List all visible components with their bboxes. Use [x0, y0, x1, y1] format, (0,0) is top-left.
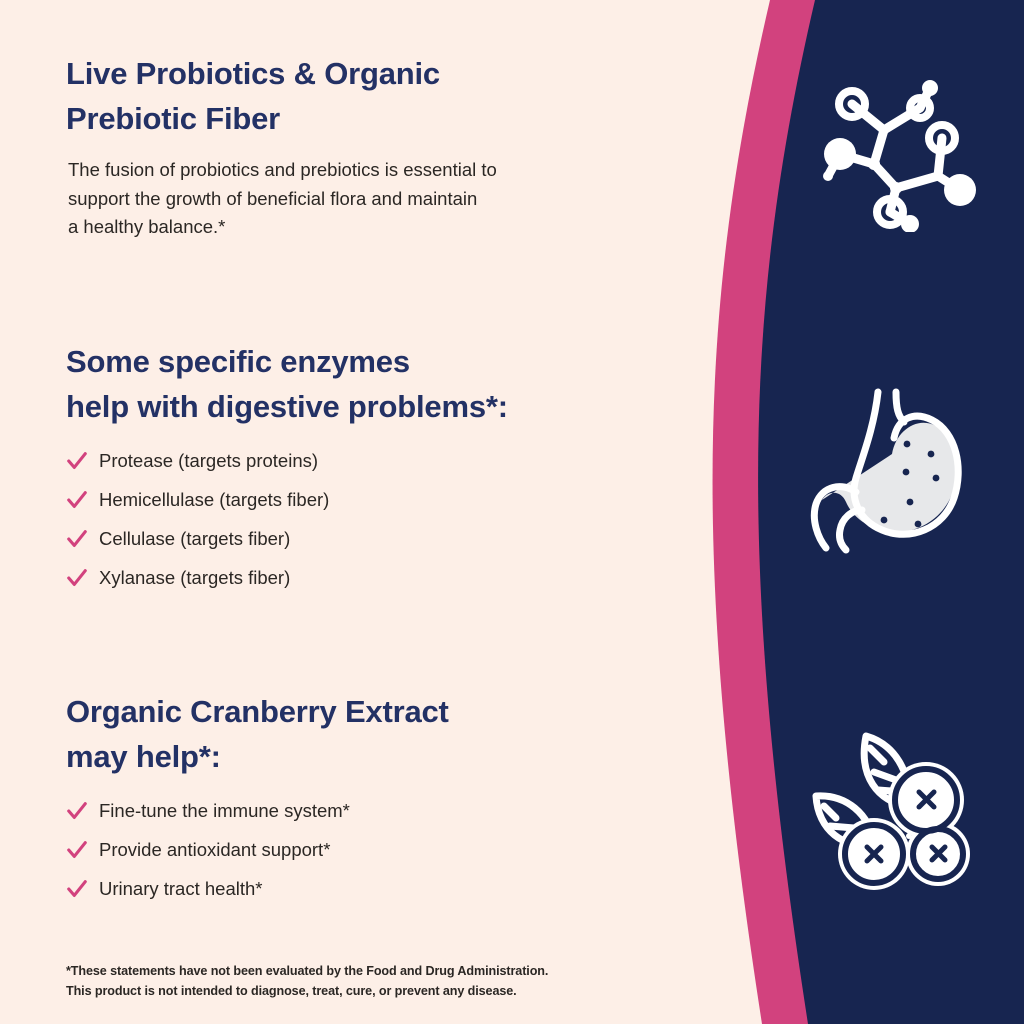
- list-item: Fine-tune the immune system*: [66, 798, 449, 824]
- check-icon: [66, 567, 88, 589]
- list-item-label: Cellulase (targets fiber): [99, 530, 290, 549]
- cranberry-benefit-list: Fine-tune the immune system* Provide ant…: [66, 798, 449, 902]
- check-icon: [66, 489, 88, 511]
- section-probiotics-body: The fusion of probiotics and prebiotics …: [68, 156, 497, 242]
- fda-disclaimer: *These statements have not been evaluate…: [66, 962, 548, 1001]
- check-icon: [66, 878, 88, 900]
- infographic-canvas: Live Probiotics & Organic Prebiotic Fibe…: [0, 0, 1024, 1024]
- check-icon: [66, 450, 88, 472]
- list-item: Hemicellulase (targets fiber): [66, 487, 508, 513]
- list-item-label: Provide antioxidant support*: [99, 841, 330, 860]
- check-icon: [66, 800, 88, 822]
- list-item-label: Protease (targets proteins): [99, 452, 318, 471]
- list-item: Protease (targets proteins): [66, 448, 508, 474]
- list-item-label: Urinary tract health*: [99, 880, 262, 899]
- list-item-label: Xylanase (targets fiber): [99, 569, 290, 588]
- list-item: Urinary tract health*: [66, 876, 449, 902]
- content-column: Live Probiotics & Organic Prebiotic Fibe…: [0, 0, 680, 1024]
- check-icon: [66, 839, 88, 861]
- section-probiotics: Live Probiotics & Organic Prebiotic Fibe…: [66, 52, 497, 242]
- section-probiotics-heading: Live Probiotics & Organic Prebiotic Fibe…: [66, 52, 497, 142]
- molecule-icon: [812, 72, 982, 232]
- section-cranberry-heading: Organic Cranberry Extract may help*:: [66, 690, 449, 780]
- enzyme-list: Protease (targets proteins) Hemicellulas…: [66, 448, 508, 591]
- list-item-label: Fine-tune the immune system*: [99, 802, 350, 821]
- list-item: Xylanase (targets fiber): [66, 565, 508, 591]
- list-item: Cellulase (targets fiber): [66, 526, 508, 552]
- check-icon: [66, 528, 88, 550]
- stomach-icon: [800, 382, 978, 554]
- cranberry-icon: [808, 728, 984, 900]
- section-enzymes-heading: Some specific enzymes help with digestiv…: [66, 340, 508, 430]
- list-item-label: Hemicellulase (targets fiber): [99, 491, 329, 510]
- section-cranberry: Organic Cranberry Extract may help*: Fin…: [66, 690, 449, 915]
- section-enzymes: Some specific enzymes help with digestiv…: [66, 340, 508, 604]
- list-item: Provide antioxidant support*: [66, 837, 449, 863]
